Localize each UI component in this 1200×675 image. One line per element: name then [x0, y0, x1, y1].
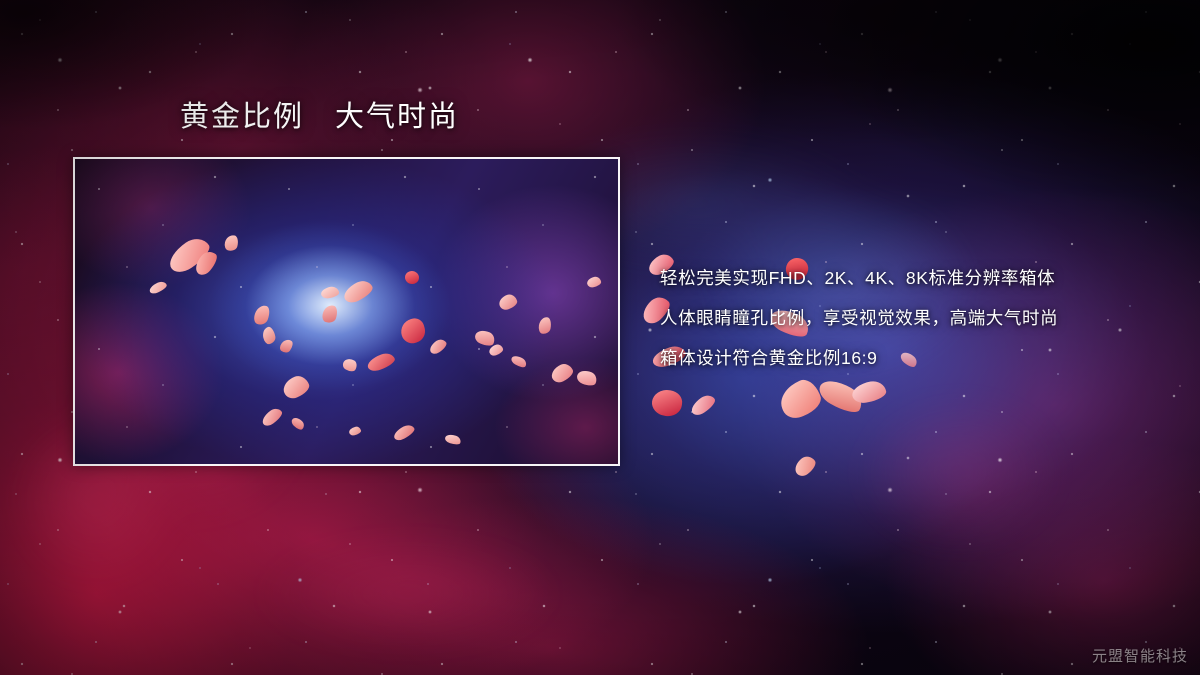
body-line: 箱体设计符合黄金比例16:9 [660, 338, 1180, 378]
petal-icon [815, 374, 867, 418]
watermark: 元盟智能科技 [1092, 645, 1188, 666]
body-copy: 轻松完美实现FHD、2K、4K、8K标准分辨率箱体 人体眼睛瞳孔比例，享受视觉效… [660, 258, 1180, 378]
petal-icon [791, 453, 818, 479]
body-line: 轻松完美实现FHD、2K、4K、8K标准分辨率箱体 [660, 258, 1180, 298]
page-title: 黄金比例 大气时尚 [180, 103, 459, 132]
petal-icon [775, 376, 825, 423]
body-line: 人体眼睛瞳孔比例，享受视觉效果，高端大气时尚 [660, 298, 1180, 338]
petal-icon [650, 388, 683, 418]
petal-icon [851, 379, 888, 405]
petal-icon [688, 392, 717, 418]
preview-starfield-icon [75, 159, 618, 464]
presentation-slide: 黄金比例 大气时尚 轻松完美实现FHD、2K、4K、8K标准分辨率箱体 人体眼睛… [0, 0, 1200, 675]
preview-image-frame[interactable] [73, 157, 620, 466]
